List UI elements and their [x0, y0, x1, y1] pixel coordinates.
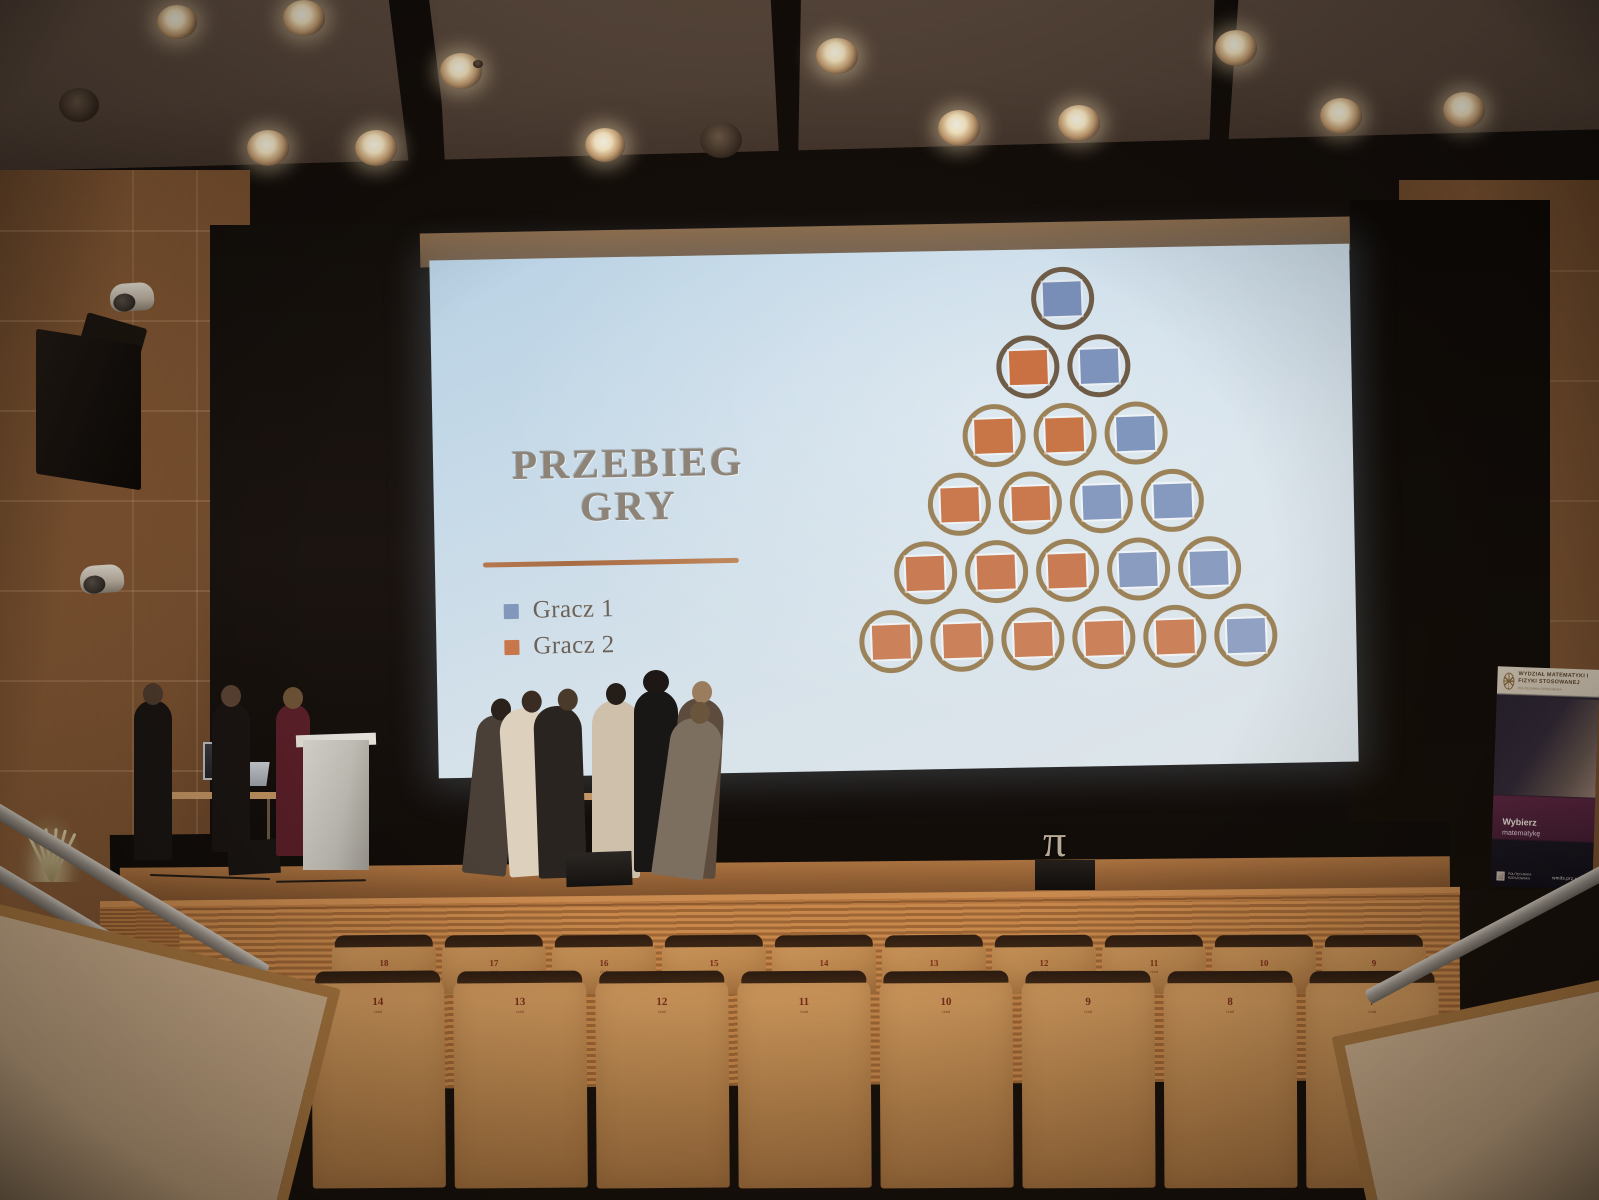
- ceiling-downlight-off: [473, 60, 483, 68]
- ceiling-downlight: [157, 5, 197, 39]
- pyramid-token[interactable]: [859, 610, 923, 674]
- pyramid-token[interactable]: [893, 541, 957, 605]
- banner-subtitle: POLITECHNIKA RZESZOWSKA: [1518, 686, 1562, 692]
- slide-title-line2: GRY: [464, 482, 795, 531]
- token-square-player2: [906, 555, 945, 590]
- banner-headline-2: matematykę: [1502, 830, 1540, 838]
- seat[interactable]: 8rzad: [1164, 978, 1298, 1189]
- ceiling-downlight: [440, 53, 482, 89]
- pyramid-row-2: [803, 330, 1324, 403]
- pyramid-token[interactable]: [1072, 606, 1136, 670]
- ceiling-downlight: [247, 130, 289, 166]
- token-square-player1: [1189, 550, 1228, 585]
- pyramid-token[interactable]: [1177, 536, 1241, 600]
- seat-number: 9: [1022, 996, 1155, 1009]
- banner-header: WYDZIAŁ MATEMATYKI I FIZYKI STOSOWANEJ P…: [1503, 670, 1598, 694]
- person-head: [643, 670, 669, 694]
- seat-row-label: rzad: [1164, 1009, 1297, 1015]
- pyramid-token[interactable]: [1140, 468, 1204, 532]
- token-square-player1: [1226, 617, 1265, 652]
- pyramid-token[interactable]: [996, 335, 1060, 399]
- token-square-player2: [940, 487, 979, 522]
- ceiling-downlight-off: [700, 122, 742, 158]
- pyramid-token[interactable]: [964, 540, 1028, 604]
- ceiling-downlight-off: [59, 88, 99, 122]
- ceiling-downlight: [355, 130, 397, 166]
- banner-photo: [1493, 696, 1598, 798]
- seat-row-label: rzad: [595, 1009, 728, 1015]
- seat-number: 15: [662, 958, 766, 969]
- game-pyramid: [802, 262, 1331, 741]
- pyramid-row-5: [807, 534, 1328, 607]
- seat-number: 13: [453, 995, 586, 1008]
- stage-floor-monitor: [565, 851, 632, 887]
- token-square-player2: [974, 418, 1013, 453]
- seat-row-label: rzad: [453, 1008, 586, 1014]
- ceiling-downlight: [1058, 105, 1100, 141]
- institution-logo-icon: [1496, 871, 1505, 880]
- ceiling-downlight: [938, 110, 980, 146]
- ceiling-downlight: [816, 38, 858, 74]
- seat-number: 10: [879, 996, 1012, 1009]
- ceiling-downlight: [1320, 98, 1362, 134]
- seat[interactable]: 10rzad: [879, 978, 1013, 1189]
- token-square-player2: [1013, 621, 1052, 656]
- pyramid-row-1: [802, 262, 1323, 335]
- seat-number: 11: [737, 996, 870, 1009]
- person-presenter-2: [212, 702, 250, 852]
- pyramid-token[interactable]: [1069, 470, 1133, 534]
- banner-title: WYDZIAŁ MATEMATYKI I FIZYKI STOSOWANEJ: [1518, 671, 1589, 686]
- seat-number: 13: [882, 958, 986, 969]
- legend-label-player2: Gracz 2: [533, 631, 615, 660]
- legend-swatch-player2: [504, 639, 519, 654]
- pyramid-token[interactable]: [1001, 607, 1065, 671]
- pyramid-token[interactable]: [927, 472, 991, 536]
- person-presenter-1: [134, 700, 172, 860]
- pyramid-token[interactable]: [1067, 334, 1131, 398]
- token-square-player2: [1155, 619, 1194, 654]
- token-square-player1: [1079, 348, 1118, 383]
- seat-number: 17: [442, 957, 546, 968]
- pi-pedestal: [1035, 860, 1095, 890]
- pyramid-token[interactable]: [962, 404, 1026, 468]
- banner-institution: POLITECHNIKA RZESZOWSKA: [1508, 872, 1550, 881]
- slide-title-line1: PRZEBIEG: [463, 439, 794, 488]
- seat[interactable]: 9rzad: [1021, 978, 1155, 1189]
- university-logo-icon: [1503, 672, 1514, 689]
- ceiling-downlight: [283, 0, 325, 36]
- seat-row-label: rzad: [1306, 1009, 1439, 1015]
- legend-item-player2: Gracz 2: [504, 631, 615, 661]
- token-square-player1: [1082, 484, 1121, 519]
- seat-number: 8: [1164, 996, 1297, 1009]
- security-camera-icon: [109, 281, 155, 312]
- person-head: [283, 687, 303, 709]
- person-head: [606, 683, 626, 705]
- auditorium-scene: PRZEBIEG GRY Gracz 1 Gracz 2: [0, 0, 1599, 1200]
- token-square-player2: [1045, 417, 1084, 452]
- pyramid-token[interactable]: [1106, 537, 1170, 601]
- slide-legend: Gracz 1 Gracz 2: [504, 595, 616, 669]
- ceiling-downlight: [1215, 30, 1257, 66]
- pyramid-token[interactable]: [998, 471, 1062, 535]
- token-square-player2: [1084, 620, 1123, 655]
- token-square-player2: [1008, 349, 1047, 384]
- seat-number: 16: [552, 958, 656, 969]
- token-square-player2: [1011, 485, 1050, 520]
- pyramid-token[interactable]: [1030, 266, 1094, 330]
- pyramid-row-4: [805, 466, 1326, 539]
- seat[interactable]: 13rzad: [453, 977, 588, 1188]
- seat-row-front: 14rzad13rzad12rzad11rzad10rzad9rzad8rzad…: [312, 978, 1448, 1188]
- person-head: [143, 683, 163, 705]
- seat-number: 12: [595, 996, 728, 1009]
- seat-row-label: rzad: [1022, 1009, 1155, 1015]
- pyramid-row-6: [808, 602, 1329, 675]
- seat-row-label: rzad: [880, 1009, 1013, 1015]
- legend-swatch-player1: [504, 603, 519, 618]
- podium: [303, 740, 369, 870]
- pyramid-token[interactable]: [1033, 402, 1097, 466]
- token-square-player2: [1048, 553, 1087, 588]
- seat[interactable]: 11rzad: [737, 978, 871, 1189]
- ceiling-downlight: [585, 128, 625, 162]
- department-roll-up-banner: WYDZIAŁ MATEMATYKI I FIZYKI STOSOWANEJ P…: [1490, 666, 1599, 889]
- pyramid-row-3: [804, 398, 1325, 471]
- seat-number: 14: [772, 958, 876, 969]
- token-square-player2: [977, 554, 1016, 589]
- pyramid-token[interactable]: [1143, 604, 1207, 668]
- legend-label-player1: Gracz 1: [533, 595, 615, 624]
- wall-loudspeaker: [36, 329, 141, 491]
- seat-number: 18: [332, 957, 436, 968]
- person-head: [221, 685, 241, 707]
- token-square-player2: [942, 623, 981, 658]
- pi-symbol-decor: π: [1043, 818, 1066, 864]
- token-square-player2: [871, 624, 910, 659]
- ceiling-downlight: [1443, 92, 1485, 128]
- pyramid-token[interactable]: [1104, 401, 1168, 465]
- seat-number: 10: [1212, 958, 1316, 969]
- person-head: [691, 681, 712, 704]
- seat[interactable]: 12rzad: [595, 978, 730, 1189]
- token-square-player1: [1043, 281, 1082, 316]
- seat-number: 12: [992, 958, 1096, 969]
- pyramid-token[interactable]: [1035, 538, 1099, 602]
- security-camera-icon: [79, 563, 125, 594]
- token-square-player1: [1153, 483, 1192, 518]
- legend-item-player1: Gracz 1: [504, 595, 615, 625]
- seat-number: 11: [1102, 958, 1206, 969]
- pyramid-token[interactable]: [930, 608, 994, 672]
- token-square-player1: [1116, 415, 1155, 450]
- pyramid-token[interactable]: [1214, 603, 1278, 667]
- seat-row-label: rzad: [738, 1009, 871, 1015]
- banner-headline: Wybierz: [1502, 817, 1537, 828]
- slide-title: PRZEBIEG GRY: [463, 439, 795, 532]
- token-square-player1: [1119, 551, 1158, 586]
